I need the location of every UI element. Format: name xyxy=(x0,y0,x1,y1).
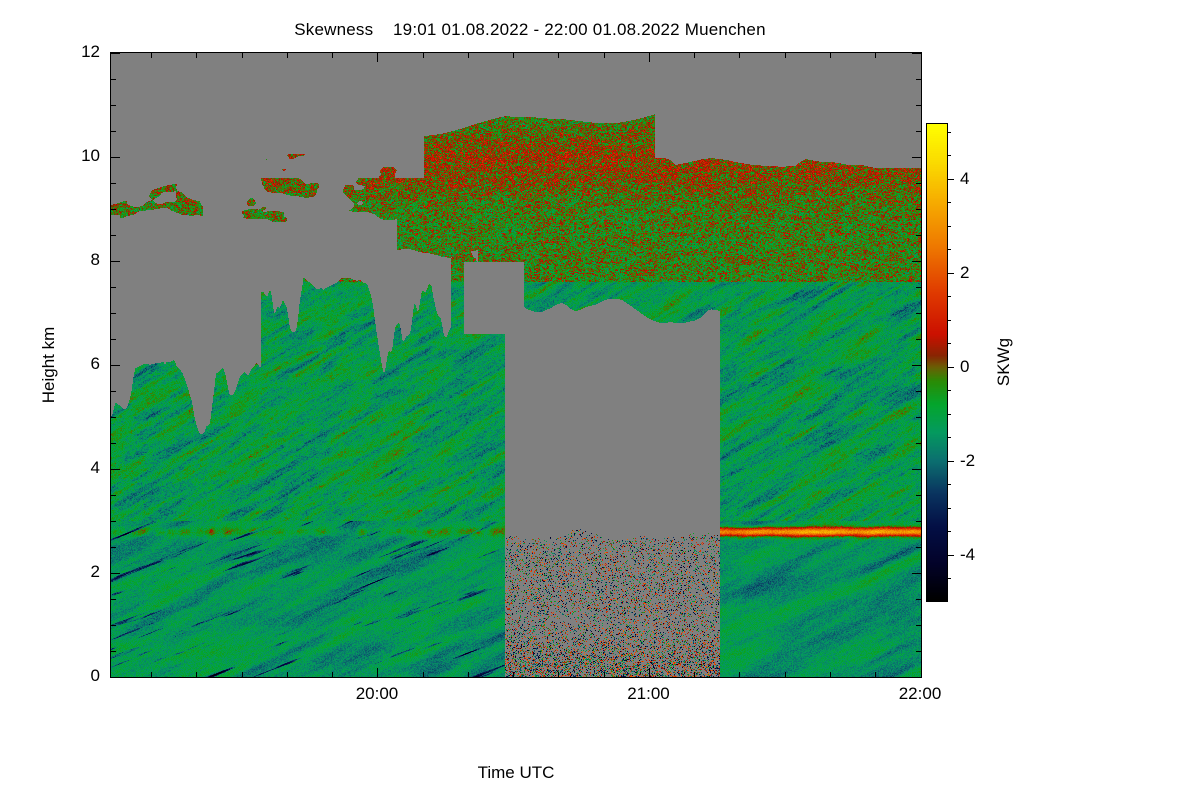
x-axis-label: Time UTC xyxy=(478,763,555,783)
y-axis-minor-tick xyxy=(916,495,921,496)
x-axis-minor-tick xyxy=(785,53,786,58)
colorbar-minor-tick xyxy=(948,508,951,509)
x-axis-tick-label: 21:00 xyxy=(627,684,670,704)
y-axis-tick-label: 0 xyxy=(40,666,100,686)
colorbar-minor-tick xyxy=(948,249,951,250)
x-axis-tick-label: 22:00 xyxy=(899,684,942,704)
page-title: Skewness 19:01 01.08.2022 - 22:00 01.08.… xyxy=(0,20,1060,40)
y-axis-minor-tick xyxy=(916,443,921,444)
colorbar-tick xyxy=(948,461,954,462)
colorbar-minor-tick xyxy=(948,343,951,344)
y-axis-tick-label: 4 xyxy=(40,458,100,478)
colorbar-minor-tick xyxy=(948,484,951,485)
y-axis-minor-tick xyxy=(111,547,116,548)
y-axis-tick-label: 8 xyxy=(40,250,100,270)
y-axis-minor-tick xyxy=(111,131,116,132)
y-axis-minor-tick xyxy=(916,209,921,210)
y-axis-tick-label: 2 xyxy=(40,562,100,582)
x-axis-tick xyxy=(377,668,378,677)
colorbar-minor-tick xyxy=(948,155,951,156)
x-axis-tick-label: 20:00 xyxy=(356,684,399,704)
x-axis-minor-tick xyxy=(830,53,831,58)
y-axis-minor-tick xyxy=(111,287,116,288)
y-axis-minor-tick xyxy=(916,313,921,314)
x-axis-minor-tick xyxy=(242,672,243,677)
x-axis-minor-tick xyxy=(513,53,514,58)
y-axis-minor-tick xyxy=(916,417,921,418)
colorbar-minor-tick xyxy=(948,202,951,203)
colorbar-minor-tick xyxy=(948,437,951,438)
colorbar-minor-tick xyxy=(948,390,951,391)
y-axis-minor-tick xyxy=(916,235,921,236)
x-axis-tick xyxy=(921,53,922,62)
x-axis-tick xyxy=(921,668,922,677)
x-axis-minor-tick xyxy=(196,53,197,58)
y-axis-minor-tick xyxy=(916,79,921,80)
x-axis-minor-tick xyxy=(423,672,424,677)
y-axis-minor-tick xyxy=(916,131,921,132)
y-axis-minor-tick xyxy=(916,599,921,600)
x-axis-minor-tick xyxy=(875,672,876,677)
y-axis-minor-tick xyxy=(111,313,116,314)
y-axis-minor-tick xyxy=(111,235,116,236)
figure-root: Skewness 19:01 01.08.2022 - 22:00 01.08.… xyxy=(0,0,1200,800)
colorbar-tick xyxy=(948,367,954,368)
y-axis-tick xyxy=(912,573,921,574)
y-axis-minor-tick xyxy=(916,651,921,652)
x-axis-minor-tick xyxy=(287,672,288,677)
colorbar-tick xyxy=(948,555,954,556)
x-axis-minor-tick xyxy=(558,53,559,58)
y-axis-tick xyxy=(912,365,921,366)
y-axis-minor-tick xyxy=(916,625,921,626)
colorbar-minor-tick xyxy=(948,320,951,321)
x-axis-minor-tick xyxy=(694,672,695,677)
colorbar-gradient xyxy=(926,123,948,602)
x-axis-minor-tick xyxy=(830,672,831,677)
y-axis-tick xyxy=(111,53,120,54)
y-axis-tick xyxy=(111,157,120,158)
y-axis-tick xyxy=(111,469,120,470)
colorbar-minor-tick xyxy=(948,414,951,415)
y-axis-tick-label: 6 xyxy=(40,354,100,374)
colorbar-minor-tick xyxy=(948,226,951,227)
y-axis-minor-tick xyxy=(916,105,921,106)
y-axis-minor-tick xyxy=(111,339,116,340)
x-axis-minor-tick xyxy=(468,672,469,677)
x-axis-minor-tick xyxy=(604,672,605,677)
colorbar[interactable]: SKWg -4-2024 xyxy=(926,123,948,602)
y-axis-tick xyxy=(912,261,921,262)
colorbar-tick xyxy=(948,273,954,274)
y-axis-minor-tick xyxy=(111,651,116,652)
y-axis-minor-tick xyxy=(111,79,116,80)
colorbar-tick-label: 4 xyxy=(960,169,969,189)
colorbar-tick-label: -4 xyxy=(960,545,975,565)
y-axis-tick-label: 12 xyxy=(40,42,100,62)
x-axis-minor-tick xyxy=(739,53,740,58)
x-axis-minor-tick xyxy=(694,53,695,58)
x-axis-minor-tick xyxy=(513,672,514,677)
y-axis-minor-tick xyxy=(111,183,116,184)
y-axis-minor-tick xyxy=(111,521,116,522)
y-axis-minor-tick xyxy=(111,209,116,210)
colorbar-tick-label: -2 xyxy=(960,451,975,471)
colorbar-tick xyxy=(948,179,954,180)
x-axis-minor-tick xyxy=(287,53,288,58)
colorbar-minor-tick xyxy=(948,132,951,133)
y-axis-minor-tick xyxy=(916,339,921,340)
colorbar-tick-label: 2 xyxy=(960,263,969,283)
x-axis-minor-tick xyxy=(332,53,333,58)
y-axis-tick xyxy=(912,469,921,470)
y-axis-tick xyxy=(111,261,120,262)
y-axis-minor-tick xyxy=(916,287,921,288)
x-axis-minor-tick xyxy=(423,53,424,58)
y-axis-tick xyxy=(111,677,120,678)
plot-area[interactable]: Height km Time UTC xyxy=(110,52,922,678)
y-axis-minor-tick xyxy=(111,443,116,444)
colorbar-minor-tick xyxy=(948,296,951,297)
y-axis-minor-tick xyxy=(111,105,116,106)
x-axis-minor-tick xyxy=(785,672,786,677)
y-axis-minor-tick xyxy=(111,417,116,418)
x-axis-minor-tick xyxy=(875,53,876,58)
x-axis-minor-tick xyxy=(196,672,197,677)
y-axis-minor-tick xyxy=(111,391,116,392)
y-axis-minor-tick xyxy=(111,599,116,600)
y-axis-minor-tick xyxy=(916,183,921,184)
x-axis-minor-tick xyxy=(604,53,605,58)
x-axis-minor-tick xyxy=(558,672,559,677)
x-axis-minor-tick xyxy=(151,672,152,677)
y-axis-tick xyxy=(111,365,120,366)
y-axis-tick xyxy=(912,157,921,158)
y-axis-minor-tick xyxy=(916,521,921,522)
skewness-heatmap-canvas[interactable] xyxy=(111,53,921,677)
y-axis-tick xyxy=(111,573,120,574)
colorbar-label: SKWg xyxy=(994,338,1014,386)
y-axis-tick-label: 10 xyxy=(40,146,100,166)
x-axis-minor-tick xyxy=(151,53,152,58)
colorbar-minor-tick xyxy=(948,578,951,579)
colorbar-minor-tick xyxy=(948,531,951,532)
x-axis-tick xyxy=(377,53,378,62)
x-axis-tick xyxy=(649,53,650,62)
y-axis-minor-tick xyxy=(916,547,921,548)
y-axis-minor-tick xyxy=(916,391,921,392)
x-axis-minor-tick xyxy=(468,53,469,58)
x-axis-tick xyxy=(649,668,650,677)
x-axis-minor-tick xyxy=(332,672,333,677)
y-axis-minor-tick xyxy=(111,495,116,496)
x-axis-minor-tick xyxy=(242,53,243,58)
x-axis-minor-tick xyxy=(739,672,740,677)
colorbar-tick-label: 0 xyxy=(960,357,969,377)
y-axis-minor-tick xyxy=(111,625,116,626)
